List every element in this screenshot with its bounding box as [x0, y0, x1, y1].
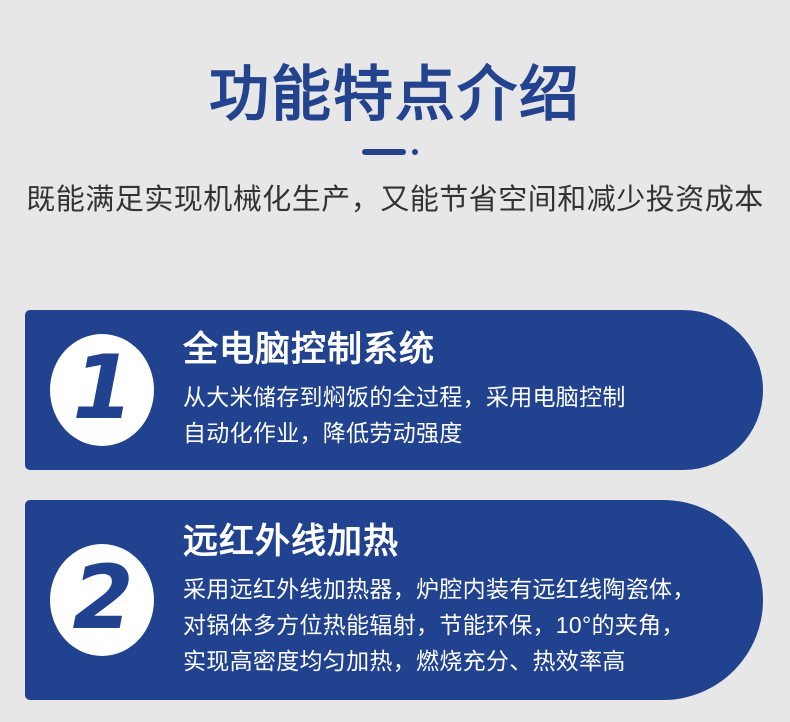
feature-card-body-1: 全电脑控制系统 从大米储存到焖饭的全过程，采用电脑控制 自动化作业，降低劳动强度	[157, 329, 763, 451]
feature-description-2: 采用远红外线加热器，炉腔内装有远红线陶瓷体， 对锅体多方位热能辐射，节能环保，1…	[183, 571, 753, 679]
feature-description-1: 从大米储存到焖饭的全过程，采用电脑控制 自动化作业，降低劳动强度	[183, 379, 753, 451]
feature-description-line: 从大米储存到焖饭的全过程，采用电脑控制	[183, 379, 753, 415]
feature-description-line: 自动化作业，降低劳动强度	[183, 415, 753, 451]
divider-dot	[412, 149, 418, 155]
feature-description-line: 对锅体多方位热能辐射，节能环保，10°的夹角，	[183, 607, 753, 643]
feature-card-body-2: 远红外线加热 采用远红外线加热器，炉腔内装有远红线陶瓷体， 对锅体多方位热能辐射…	[157, 521, 763, 679]
feature-number-1: 1	[72, 344, 133, 432]
feature-card-2: 2 远红外线加热 采用远红外线加热器，炉腔内装有远红线陶瓷体， 对锅体多方位热能…	[25, 500, 763, 700]
feature-description-line: 采用远红外线加热器，炉腔内装有远红线陶瓷体，	[183, 571, 753, 607]
badge-circle-icon: 1	[50, 334, 154, 446]
page-header: 功能特点介绍 既能满足实现机械化生产，又能节省空间和减少投资成本	[0, 0, 790, 220]
page-title: 功能特点介绍	[0, 62, 790, 128]
feature-heading-2: 远红外线加热	[183, 521, 753, 563]
feature-description-line: 实现高密度均匀加热，燃烧充分、热效率高	[183, 643, 753, 679]
feature-number-badge-1: 1	[47, 334, 157, 446]
feature-card-list: 1 全电脑控制系统 从大米储存到焖饭的全过程，采用电脑控制 自动化作业，降低劳动…	[25, 310, 765, 700]
feature-number-2: 2	[72, 554, 133, 642]
dash-dot-divider-icon	[362, 148, 428, 156]
divider-bar	[362, 149, 406, 155]
feature-card-1: 1 全电脑控制系统 从大米储存到焖饭的全过程，采用电脑控制 自动化作业，降低劳动…	[25, 310, 763, 470]
feature-number-badge-2: 2	[47, 544, 157, 656]
badge-circle-icon: 2	[50, 544, 154, 656]
feature-heading-1: 全电脑控制系统	[183, 329, 753, 371]
page-subtitle: 既能满足实现机械化生产，又能节省空间和减少投资成本	[0, 180, 790, 220]
